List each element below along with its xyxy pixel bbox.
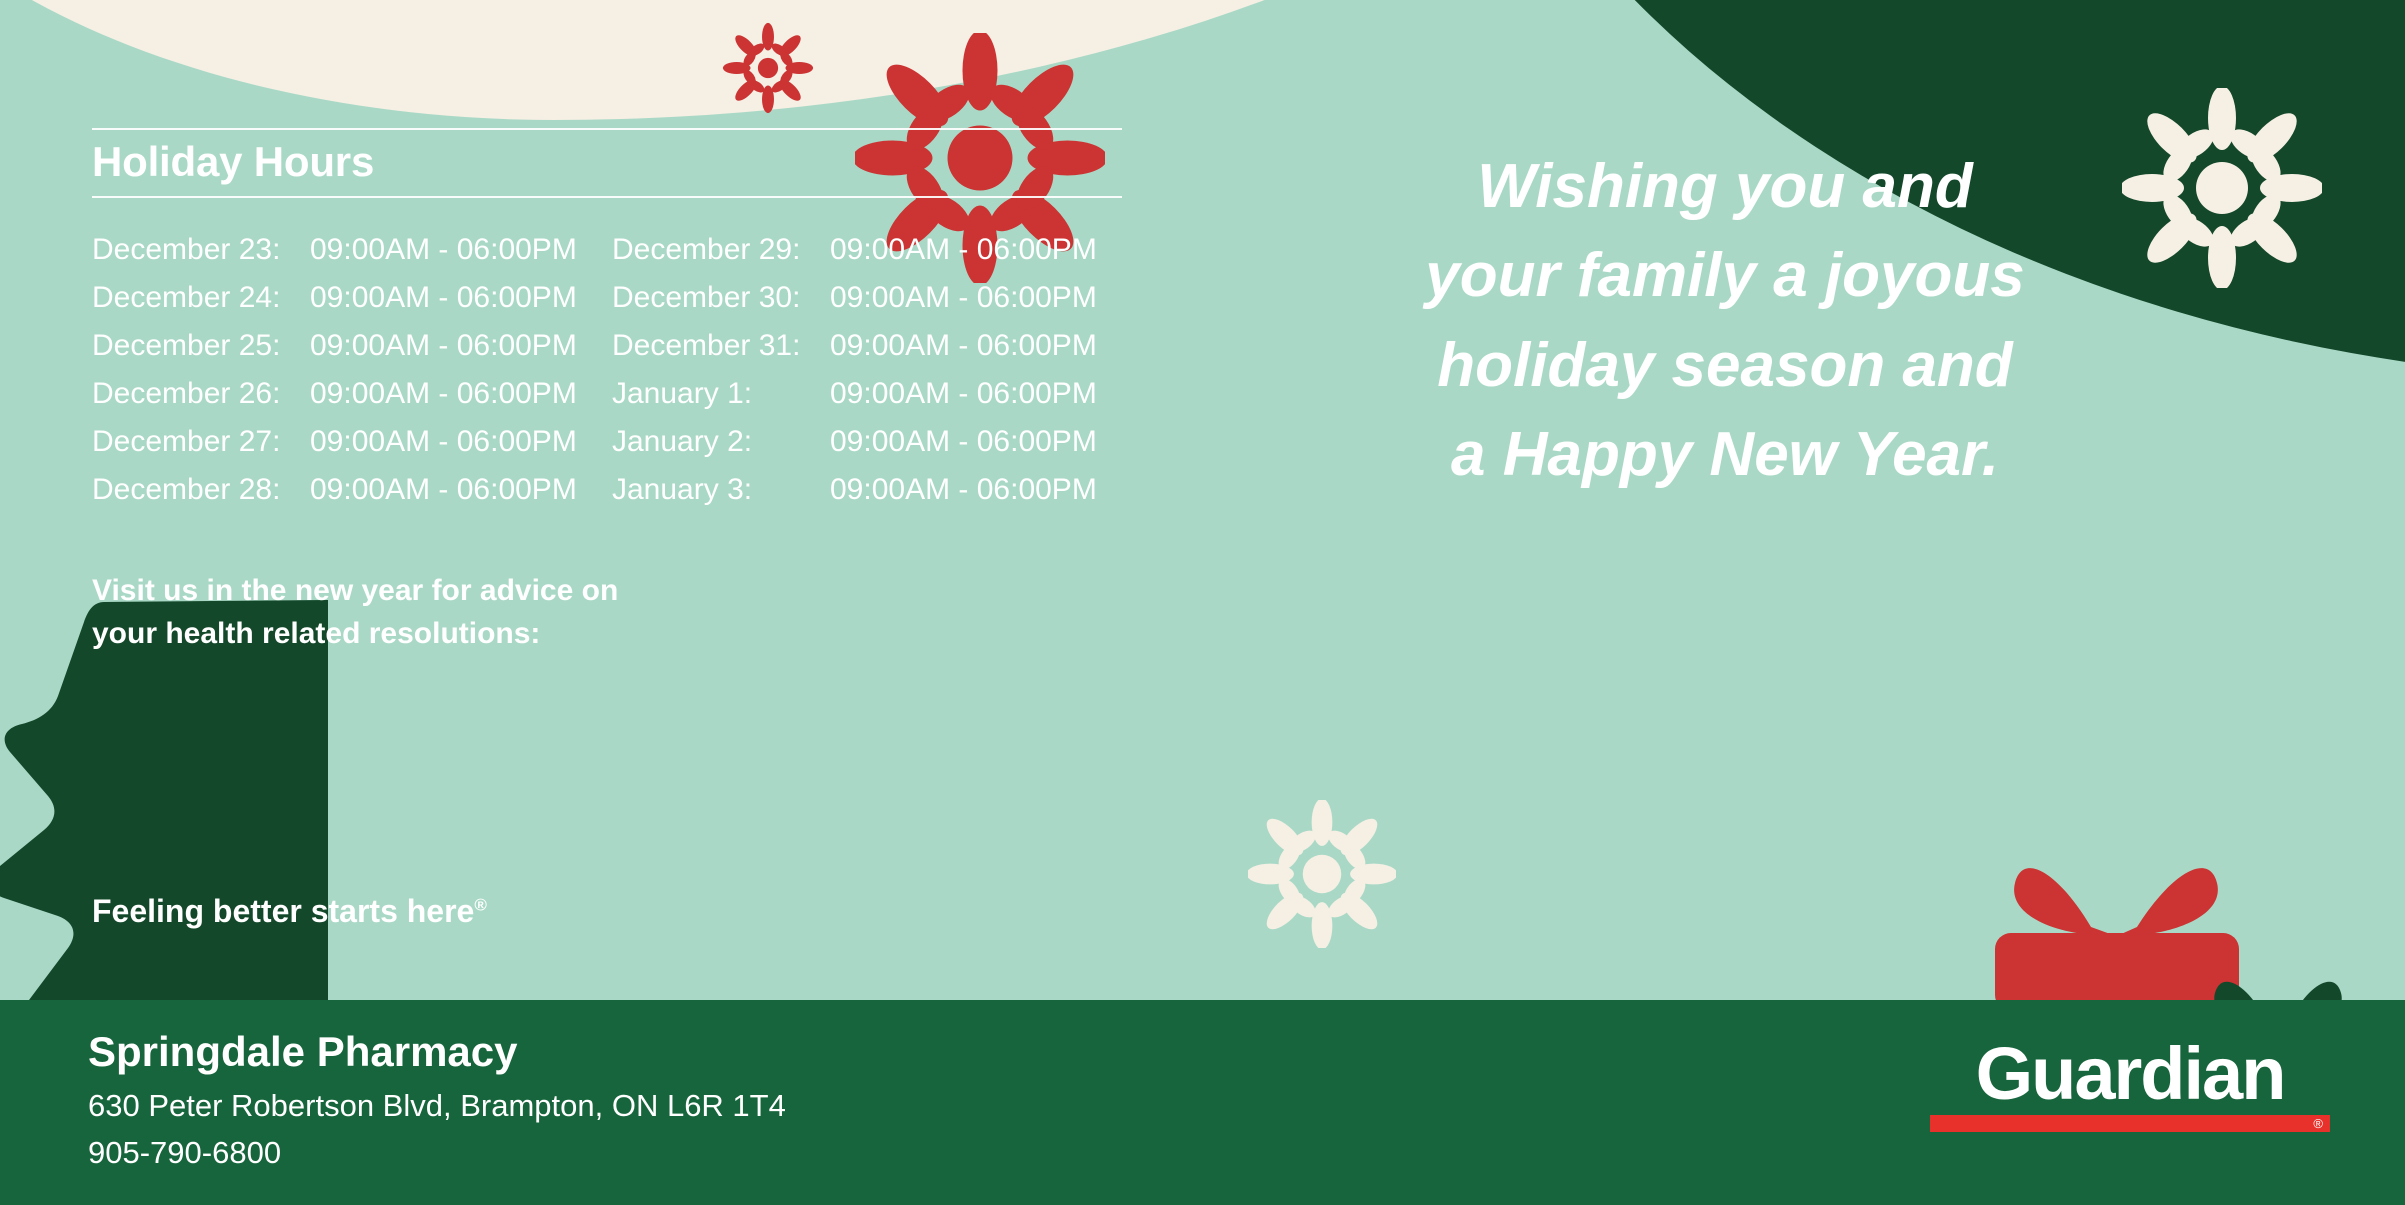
hours-time-value: 09:00AM - 06:00PM (830, 466, 1097, 514)
hours-row: January 1: 09:00AM - 06:00PM (612, 370, 1132, 418)
hours-row: December 24: 09:00AM - 06:00PM (92, 274, 612, 322)
holiday-hours-banner: Holiday Hours December 23: 09:00AM - 06:… (0, 0, 2405, 1205)
hours-day-label: December 28: (92, 466, 310, 514)
hours-time-value: 09:00AM - 06:00PM (830, 370, 1097, 418)
holiday-hours-table: December 23: 09:00AM - 06:00PM December … (92, 226, 1122, 514)
hours-day-label: December 26: (92, 370, 310, 418)
hours-time-value: 09:00AM - 06:00PM (830, 274, 1097, 322)
holiday-hours-section: Holiday Hours December 23: 09:00AM - 06:… (92, 128, 1122, 514)
hours-row: December 31: 09:00AM - 06:00PM (612, 322, 1132, 370)
hours-time-value: 09:00AM - 06:00PM (310, 274, 577, 322)
footer-bar: Springdale Pharmacy 630 Peter Robertson … (0, 1000, 2405, 1205)
hours-time-value: 09:00AM - 06:00PM (830, 418, 1097, 466)
hours-time-value: 09:00AM - 06:00PM (310, 322, 577, 370)
hours-row: December 28: 09:00AM - 06:00PM (92, 466, 612, 514)
hours-day-label: December 27: (92, 418, 310, 466)
hours-day-label: December 25: (92, 322, 310, 370)
hours-row: December 23: 09:00AM - 06:00PM (92, 226, 612, 274)
hours-day-label: December 29: (612, 226, 830, 274)
hours-time-value: 09:00AM - 06:00PM (310, 418, 577, 466)
hours-day-label: January 3: (612, 466, 830, 514)
hours-row: December 30: 09:00AM - 06:00PM (612, 274, 1132, 322)
hours-day-label: December 23: (92, 226, 310, 274)
hours-row: December 29: 09:00AM - 06:00PM (612, 226, 1132, 274)
hours-day-label: January 2: (612, 418, 830, 466)
hours-day-label: December 24: (92, 274, 310, 322)
hours-time-value: 09:00AM - 06:00PM (310, 370, 577, 418)
hours-row: December 26: 09:00AM - 06:00PM (92, 370, 612, 418)
guardian-wordmark: Guardian (1930, 1038, 2330, 1109)
hours-row: December 25: 09:00AM - 06:00PM (92, 322, 612, 370)
hours-row: December 27: 09:00AM - 06:00PM (92, 418, 612, 466)
guardian-logo: Guardian ® (1930, 1038, 2330, 1132)
visit-message: Visit us in the new year for advice on y… (92, 570, 618, 655)
hours-row: January 3: 09:00AM - 06:00PM (612, 466, 1132, 514)
hours-time-value: 09:00AM - 06:00PM (310, 466, 577, 514)
store-name: Springdale Pharmacy (88, 1028, 518, 1076)
hours-time-value: 09:00AM - 06:00PM (310, 226, 577, 274)
store-phone: 905-790-6800 (88, 1135, 281, 1171)
divider-bottom (92, 196, 1122, 198)
hours-row: January 2: 09:00AM - 06:00PM (612, 418, 1132, 466)
registered-trademark-mark: ® (474, 895, 487, 914)
brand-tagline-text: Feeling better starts here (92, 893, 474, 929)
hours-day-label: December 31: (612, 322, 830, 370)
registered-trademark-mark: ® (2313, 1116, 2323, 1131)
store-address: 630 Peter Robertson Blvd, Brampton, ON L… (88, 1088, 786, 1124)
hours-time-value: 09:00AM - 06:00PM (830, 322, 1097, 370)
hours-time-value: 09:00AM - 06:00PM (830, 226, 1097, 274)
divider-top (92, 128, 1122, 130)
hours-day-label: December 30: (612, 274, 830, 322)
guardian-logo-underline-bar: ® (1930, 1115, 2330, 1132)
brand-tagline: Feeling better starts here® (92, 893, 487, 930)
hours-day-label: January 1: (612, 370, 830, 418)
holiday-greeting-message: Wishing you and your family a joyous hol… (1345, 142, 2105, 499)
holiday-hours-title: Holiday Hours (92, 130, 1122, 196)
